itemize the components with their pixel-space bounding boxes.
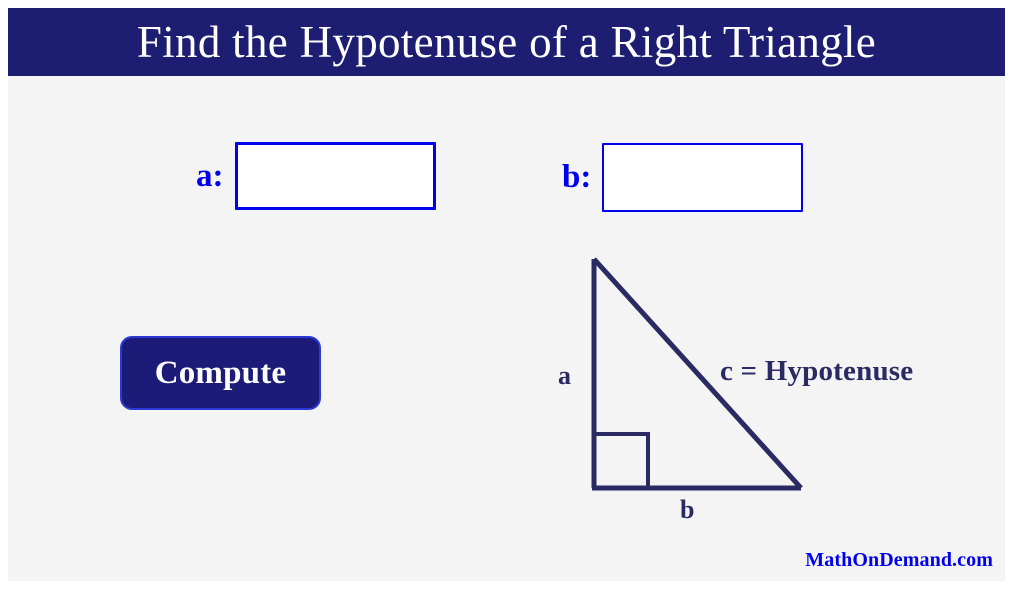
triangle-svg bbox=[525, 245, 995, 545]
triangle-label-b: b bbox=[680, 497, 694, 523]
app-root: Find the Hypotenuse of a Right Triangle … bbox=[0, 0, 1011, 589]
triangle-label-a: a bbox=[558, 363, 571, 389]
compute-button[interactable]: Compute bbox=[120, 336, 321, 410]
field-group-a: a: bbox=[196, 142, 436, 210]
page-title: Find the Hypotenuse of a Right Triangle bbox=[137, 20, 876, 65]
field-group-b: b: bbox=[562, 143, 803, 212]
triangle-label-hypotenuse: c = Hypotenuse bbox=[720, 357, 913, 386]
right-angle-marker-icon bbox=[594, 434, 648, 488]
label-b: b: bbox=[562, 161, 591, 194]
input-b[interactable] bbox=[602, 143, 803, 212]
label-a: a: bbox=[196, 160, 224, 193]
input-a[interactable] bbox=[235, 142, 436, 210]
right-triangle-diagram: a b c = Hypotenuse bbox=[525, 245, 995, 545]
title-banner: Find the Hypotenuse of a Right Triangle bbox=[8, 8, 1005, 76]
watermark: MathOnDemand.com bbox=[805, 549, 993, 572]
